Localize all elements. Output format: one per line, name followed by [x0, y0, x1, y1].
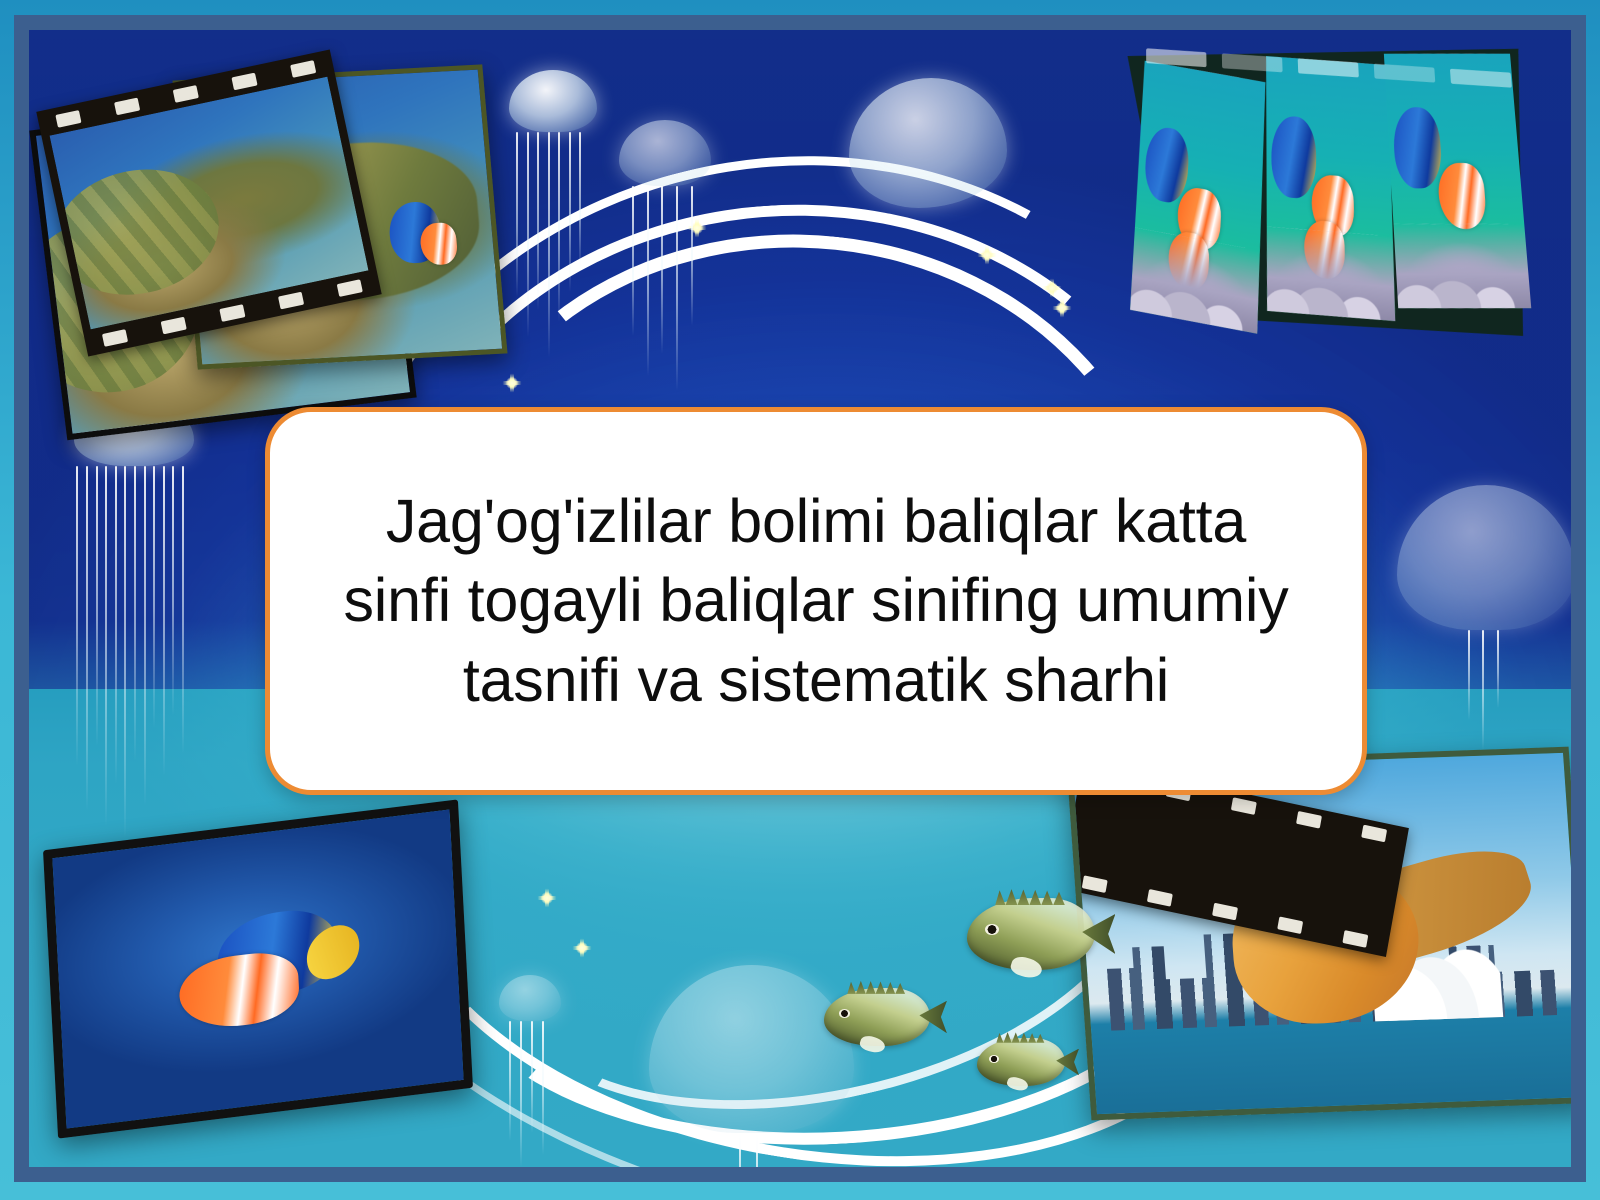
aquarium-frame-2 [1266, 56, 1395, 322]
slide-title: Jag'og'izlilar bolimi baliqlar katta sin… [317, 482, 1314, 720]
slide: Jag'og'izlilar bolimi baliqlar katta sin… [0, 0, 1600, 1200]
film-strip-turtle [37, 60, 497, 460]
tv-screen-nemo [43, 799, 473, 1138]
aquarium-frame-3 [1384, 54, 1531, 309]
photo-pelican-sydney [1067, 747, 1571, 1121]
film-strip-aquarium [1048, 43, 1543, 366]
slide-background-canvas: Jag'og'izlilar bolimi baliqlar katta sin… [29, 30, 1571, 1167]
title-textbox: Jag'og'izlilar bolimi baliqlar katta sin… [265, 407, 1367, 795]
aquarium-frame-1 [1130, 60, 1265, 333]
